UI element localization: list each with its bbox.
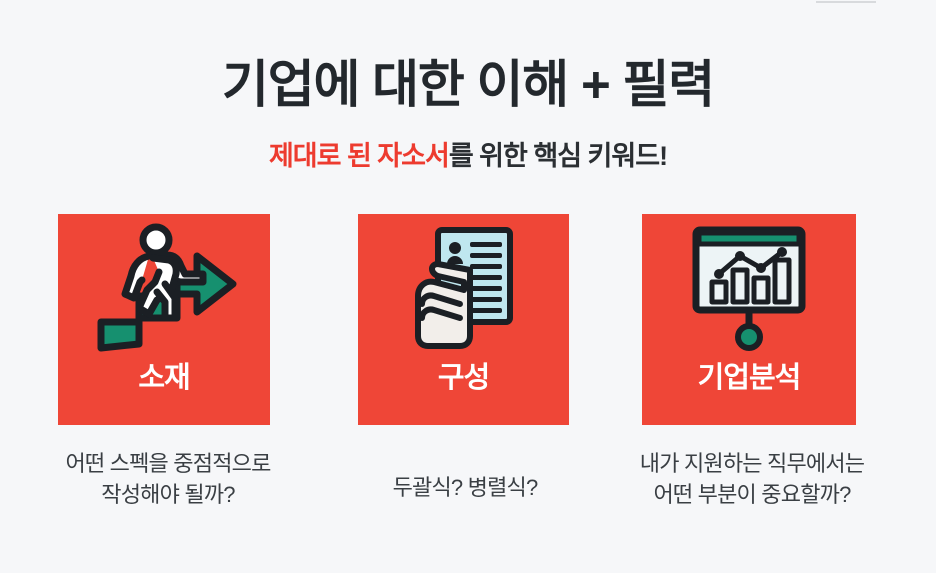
caption-guseong: 두괄식? 병렬식?: [345, 472, 585, 503]
card-row: 소재: [58, 214, 858, 425]
page-title: 기업에 대한 이해 + 필력: [0, 58, 936, 112]
caption-line: 작성해야 될까?: [18, 479, 318, 510]
caption-gieopbunseok: 내가 지원하는 직무에서는 어떤 부분이 중요할까?: [592, 448, 912, 510]
subtitle-exclamation: !: [659, 141, 667, 171]
page-subtitle: 제대로 된 자소서를 위한 핵심 키워드!: [0, 142, 936, 172]
poster-canvas: 기업에 대한 이해 + 필력 제대로 된 자소서를 위한 핵심 키워드!: [0, 0, 936, 573]
icon-container: [642, 214, 856, 362]
icon-container: [358, 214, 569, 362]
caption-line: 내가 지원하는 직무에서는: [592, 448, 912, 479]
caption-line: 어떤 부분이 중요할까?: [592, 479, 912, 510]
caption-line: 두괄식? 병렬식?: [345, 472, 585, 503]
caption-soje: 어떤 스펙을 중점적으로 작성해야 될까?: [18, 448, 318, 510]
presentation-board-bar-chart-icon: [690, 224, 808, 352]
hand-holding-resume-document-icon: [408, 224, 520, 352]
icon-container: [58, 214, 270, 362]
person-climbing-stairs-arrow-icon: [91, 222, 237, 354]
card-soje[interactable]: 소재: [58, 214, 270, 425]
card-label: 구성: [438, 364, 489, 393]
caption-row: 어떤 스펙을 중점적으로 작성해야 될까? 두괄식? 병렬식? 내가 지원하는 …: [0, 448, 936, 538]
card-label: 기업분석: [698, 364, 801, 393]
card-guseong[interactable]: 구성: [358, 214, 569, 425]
caption-line: 어떤 스펙을 중점적으로: [18, 448, 318, 479]
card-label: 소재: [138, 364, 189, 393]
subtitle-highlight: 제대로 된 자소서: [269, 141, 449, 171]
subtitle-rest: 를 위한 핵심 키워드: [449, 141, 659, 171]
card-gieopbunseok[interactable]: 기업분석: [642, 214, 856, 425]
top-divider-line: [816, 1, 876, 3]
